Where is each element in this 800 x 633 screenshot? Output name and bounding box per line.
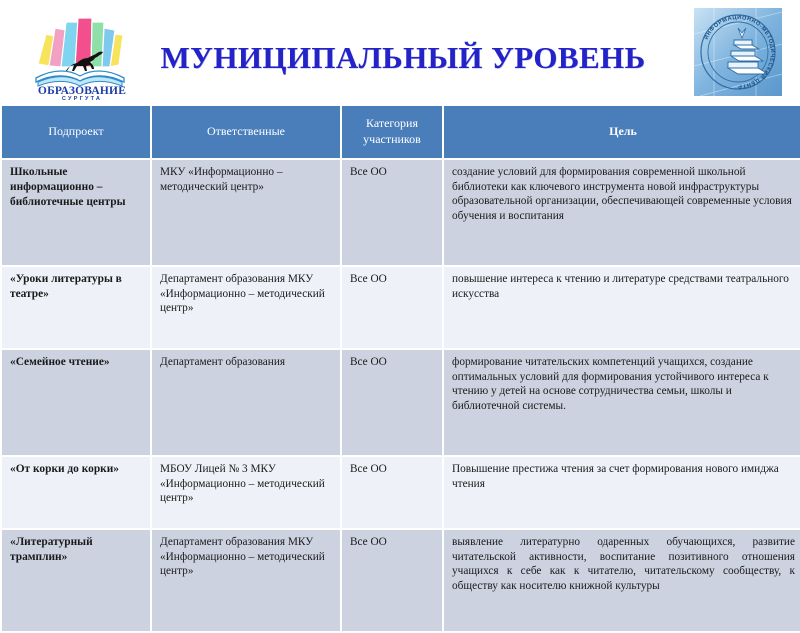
cell-category: Все ОО [342, 457, 442, 528]
cell-responsible: Департамент образования МКУ «Информацион… [152, 530, 340, 631]
cell-subproject: «Литературный трамплин» [2, 530, 150, 631]
column-header-subproject-label: Подпроект [8, 124, 144, 140]
column-header-category: Категория участников [342, 106, 442, 158]
cell-subproject: «Семейное чтение» [2, 350, 150, 455]
cell-subproject: Школьные информационно – библиотечные це… [2, 160, 150, 265]
obrazovanie-surguta-logo: ОБРАЗОВАНИЕ СУРГУТА [22, 8, 142, 100]
cell-goal: создание условий для формирования соврем… [444, 160, 800, 265]
table-header-row: Подпроект Ответственные Категория участн… [2, 106, 800, 158]
column-header-subproject: Подпроект [2, 106, 150, 158]
column-header-responsible-label: Ответственные [158, 124, 334, 140]
column-header-goal-label: Цель [450, 124, 796, 140]
cell-category: Все ОО [342, 530, 442, 631]
page-title: МУНИЦИПАЛЬНЫЙ УРОВЕНЬ [148, 40, 658, 76]
cell-category: Все ОО [342, 267, 442, 348]
cell-goal: повышение интереса к чтению и литературе… [444, 267, 800, 348]
column-header-responsible: Ответственные [152, 106, 340, 158]
cell-responsible: МБОУ Лицей № 3 МКУ «Информационно – мето… [152, 457, 340, 528]
cell-responsible: Департамент образования [152, 350, 340, 455]
table-row: «Литературный трамплин» Департамент обра… [2, 530, 800, 631]
table-row: Школьные информационно – библиотечные це… [2, 160, 800, 265]
cell-goal: формирование читательских компетенций уч… [444, 350, 800, 455]
table-row: «От корки до корки» МБОУ Лицей № 3 МКУ «… [2, 457, 800, 528]
column-header-category-line1: Категория [348, 116, 436, 132]
column-header-goal: Цель [444, 106, 800, 158]
municipal-level-table: Подпроект Ответственные Категория участн… [0, 104, 800, 633]
svg-text:СУРГУТА: СУРГУТА [62, 96, 102, 100]
cell-category: Все ОО [342, 350, 442, 455]
cell-subproject: «От корки до корки» [2, 457, 150, 528]
cell-goal: выявление литературно одаренных обучающи… [444, 530, 800, 631]
cell-subproject: «Уроки литературы в театре» [2, 267, 150, 348]
cell-responsible: Департамент образования МКУ «Информацион… [152, 267, 340, 348]
cell-goal: Повышение престижа чтения за счет формир… [444, 457, 800, 528]
table-row: «Уроки литературы в театре» Департамент … [2, 267, 800, 348]
slide-header: ОБРАЗОВАНИЕ СУРГУТА МУНИЦИПАЛЬНЫЙ УРОВЕН… [0, 0, 800, 104]
cell-responsible: МКУ «Информационно – методический центр» [152, 160, 340, 265]
informacionno-metodicheskiy-centr-emblem: ИНФОРМАЦИОННО-МЕТОДИЧЕСКИЙ ЦЕНТР [690, 4, 786, 100]
cell-category: Все ОО [342, 160, 442, 265]
column-header-category-line2: участников [348, 132, 436, 148]
table-row: «Семейное чтение» Департамент образовани… [2, 350, 800, 455]
